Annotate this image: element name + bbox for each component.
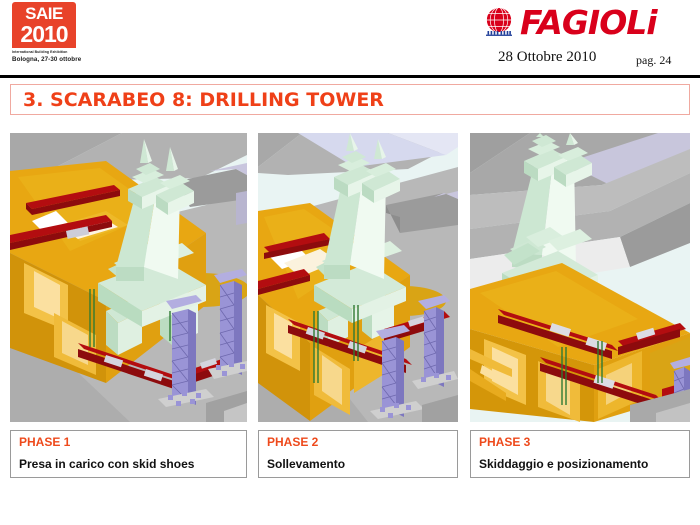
caption-phase-text: Presa in carico con skid shoes	[19, 456, 194, 472]
caption-phase-text: Sollevamento	[267, 456, 345, 472]
fagioli-wordmark: FAGIOLi	[520, 6, 657, 39]
caption-phase-1: PHASE 1 Presa in carico con skid shoes	[10, 430, 247, 478]
fagioli-logo: FAGIOLi	[484, 4, 688, 44]
caption-phase-label: PHASE 1	[19, 435, 70, 450]
slide-header: SAIE 2010 International Building Exhibit…	[0, 0, 700, 77]
cad-render-phase-2	[258, 133, 458, 422]
globe-base-icon	[486, 31, 512, 37]
slide-page-number: pag. 24	[636, 52, 671, 68]
saie-logo: SAIE 2010 International Building Exhibit…	[12, 2, 90, 68]
caption-phase-2: PHASE 2 Sollevamento	[258, 430, 458, 478]
cad-render-phase-3	[470, 133, 690, 422]
caption-phase-label: PHASE 2	[267, 435, 318, 450]
slide-title-box: 3. SCARABEO 8: DRILLING TOWER	[10, 84, 690, 115]
saie-logo-year: 2010	[12, 21, 76, 47]
slide-date: 28 Ottobre 2010	[498, 48, 596, 66]
saie-logo-subtitle-2: Bologna, 27-30 ottobre	[12, 56, 90, 64]
cad-render-phase-1	[10, 133, 247, 422]
header-divider	[0, 75, 700, 78]
saie-logo-subtitle-1: International Building Exhibition	[12, 50, 90, 55]
page-title: 3. SCARABEO 8: DRILLING TOWER	[23, 89, 384, 112]
caption-phase-text: Skiddaggio e posizionamento	[479, 456, 648, 472]
caption-phase-3: PHASE 3 Skiddaggio e posizionamento	[470, 430, 690, 478]
caption-phase-label: PHASE 3	[479, 435, 530, 450]
